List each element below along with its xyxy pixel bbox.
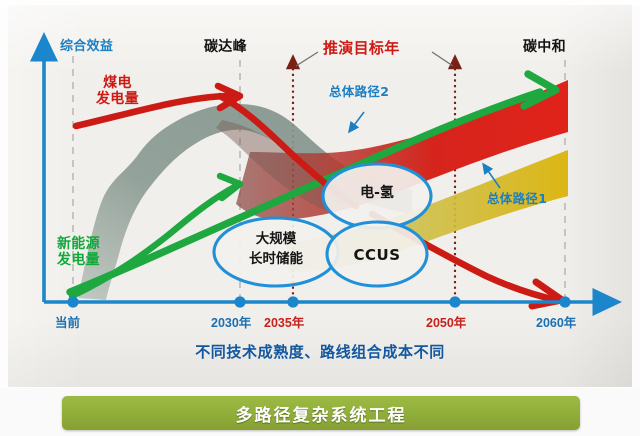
tick-dot-2035 — [287, 296, 298, 307]
target-pointer-right — [432, 52, 453, 66]
bubble-storage-label-line1: 大规模 — [228, 230, 324, 250]
new-energy-series-label: 新能源 发电量 — [57, 237, 100, 268]
bubble-ccus-label: CCUS — [337, 246, 417, 264]
bubble-electro-hydrogen-label: 电-氢 — [340, 182, 414, 202]
figure-caption: 不同技术成熟度、路线组合成本不同 — [0, 344, 640, 361]
x-tick-2035: 2035年 — [264, 312, 304, 331]
carbon-neutral-label: 碳中和 — [523, 40, 566, 56]
diagram-graphics — [0, 0, 640, 436]
overall-path-1-label: 总体路径1 — [487, 192, 547, 206]
tick-dot-2060 — [559, 296, 570, 307]
target-year-label: 推演目标年 — [323, 40, 400, 57]
coal-series-label-line2: 发电量 — [96, 92, 139, 108]
bottom-banner: 多路径复杂系统工程 — [62, 396, 580, 430]
target-pointer-left — [296, 52, 318, 66]
tick-dot-2050 — [449, 296, 460, 307]
tick-dot-2030 — [234, 296, 245, 307]
new-energy-series-label-line2: 发电量 — [57, 253, 100, 269]
tick-dot-current — [67, 296, 78, 307]
x-tick-2030: 2030年 — [211, 312, 251, 331]
axis-y-label: 综合效益 — [60, 40, 113, 55]
bubble-storage-label: 大规模 长时储能 — [228, 230, 324, 269]
x-tick-current: 当前 — [55, 312, 80, 331]
bubble-storage-label-line2: 长时储能 — [228, 250, 324, 270]
overall-path-2-label: 总体路径2 — [329, 85, 389, 99]
carbon-peak-label: 碳达峰 — [204, 40, 247, 56]
coal-series-label-line1: 煤电 — [96, 76, 139, 92]
x-tick-2060: 2060年 — [536, 312, 576, 331]
new-energy-series-label-line1: 新能源 — [57, 237, 100, 253]
slide-canvas: 综合效益 煤电 发电量 新能源 发电量 碳达峰 推演目标年 碳中和 总体路径2 … — [0, 0, 640, 436]
bottom-banner-title: 多路径复杂系统工程 — [236, 401, 407, 426]
x-tick-2050: 2050年 — [426, 312, 466, 331]
coal-series-label: 煤电 发电量 — [96, 76, 139, 107]
path2-leader — [352, 112, 364, 128]
